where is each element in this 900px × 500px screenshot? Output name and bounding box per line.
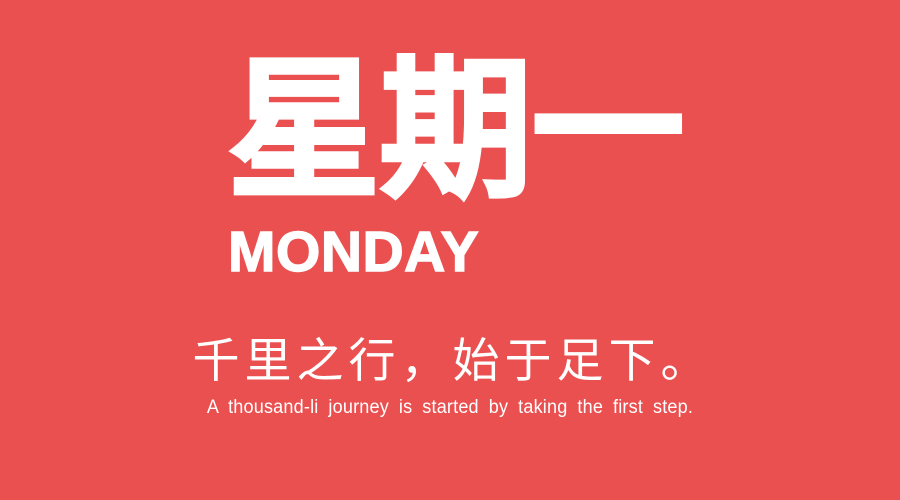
day-card: 星期一 MONDAY 千里之行，始于足下。 A thousand-li jour… [0, 0, 900, 500]
day-title-block: 星期一 MONDAY [228, 52, 708, 281]
day-title-english: MONDAY [228, 224, 708, 281]
proverb-english: A thousand-li journey is started by taki… [23, 396, 878, 420]
day-title-cjk: 星期一 [228, 52, 708, 210]
proverb-block: 千里之行，始于足下。 A thousand-li journey is star… [0, 334, 900, 420]
proverb-cjk: 千里之行，始于足下。 [0, 334, 900, 390]
